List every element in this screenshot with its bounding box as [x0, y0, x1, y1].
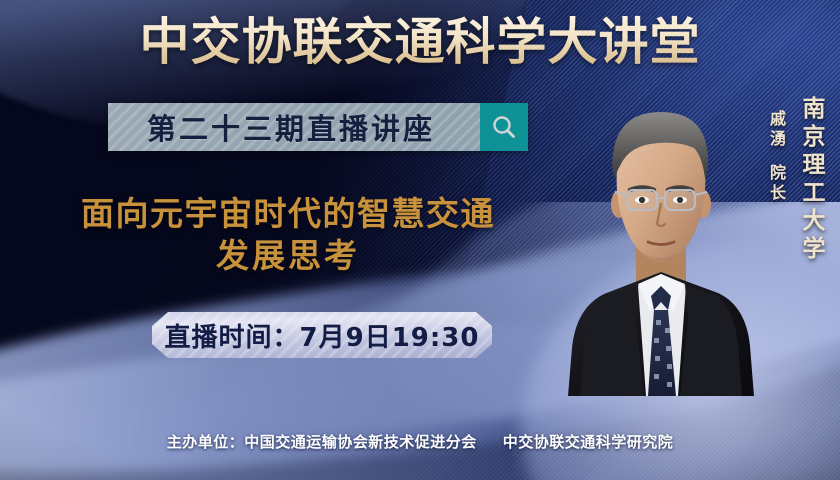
episode-label: 第二十三期直播讲座: [147, 106, 435, 148]
page-title: 中交协联交通科学大讲堂: [0, 14, 840, 71]
speaker-name: 戚湧: [767, 110, 786, 150]
speaker-portrait: [566, 96, 756, 396]
speaker-name-role: 戚湧院长: [764, 110, 788, 204]
lecture-topic: 面向元宇宙时代的智慧交通 发展思考: [28, 193, 548, 277]
live-time-badge: 直播时间：7月9日19:30: [152, 312, 492, 358]
live-lecture-poster: 中交协联交通科学大讲堂 第二十三期直播讲座 面向元宇宙时代的智慧交通 发展思考 …: [0, 0, 840, 480]
live-time-text: 直播时间：7月9日19:30: [165, 317, 480, 354]
footer-org-1: 中国交通运输协会新技术促进分会: [244, 433, 477, 451]
search-icon: [490, 113, 518, 141]
footer-prefix: 主办单位：: [167, 433, 245, 451]
speaker-organization: 南京理工大学: [794, 96, 828, 264]
speaker-role: 院长: [764, 164, 788, 204]
lecture-topic-line1: 面向元宇宙时代的智慧交通: [28, 193, 548, 235]
search-button[interactable]: [480, 103, 528, 151]
footer-org-2: 中交协联交通科学研究院: [503, 433, 674, 451]
lecture-topic-line2: 发展思考: [28, 235, 548, 277]
episode-label-container: 第二十三期直播讲座: [108, 103, 480, 151]
episode-subtitle-bar: 第二十三期直播讲座: [108, 103, 528, 151]
organizers-footer: 主办单位：中国交通运输协会新技术促进分会中交协联交通科学研究院: [0, 431, 840, 452]
